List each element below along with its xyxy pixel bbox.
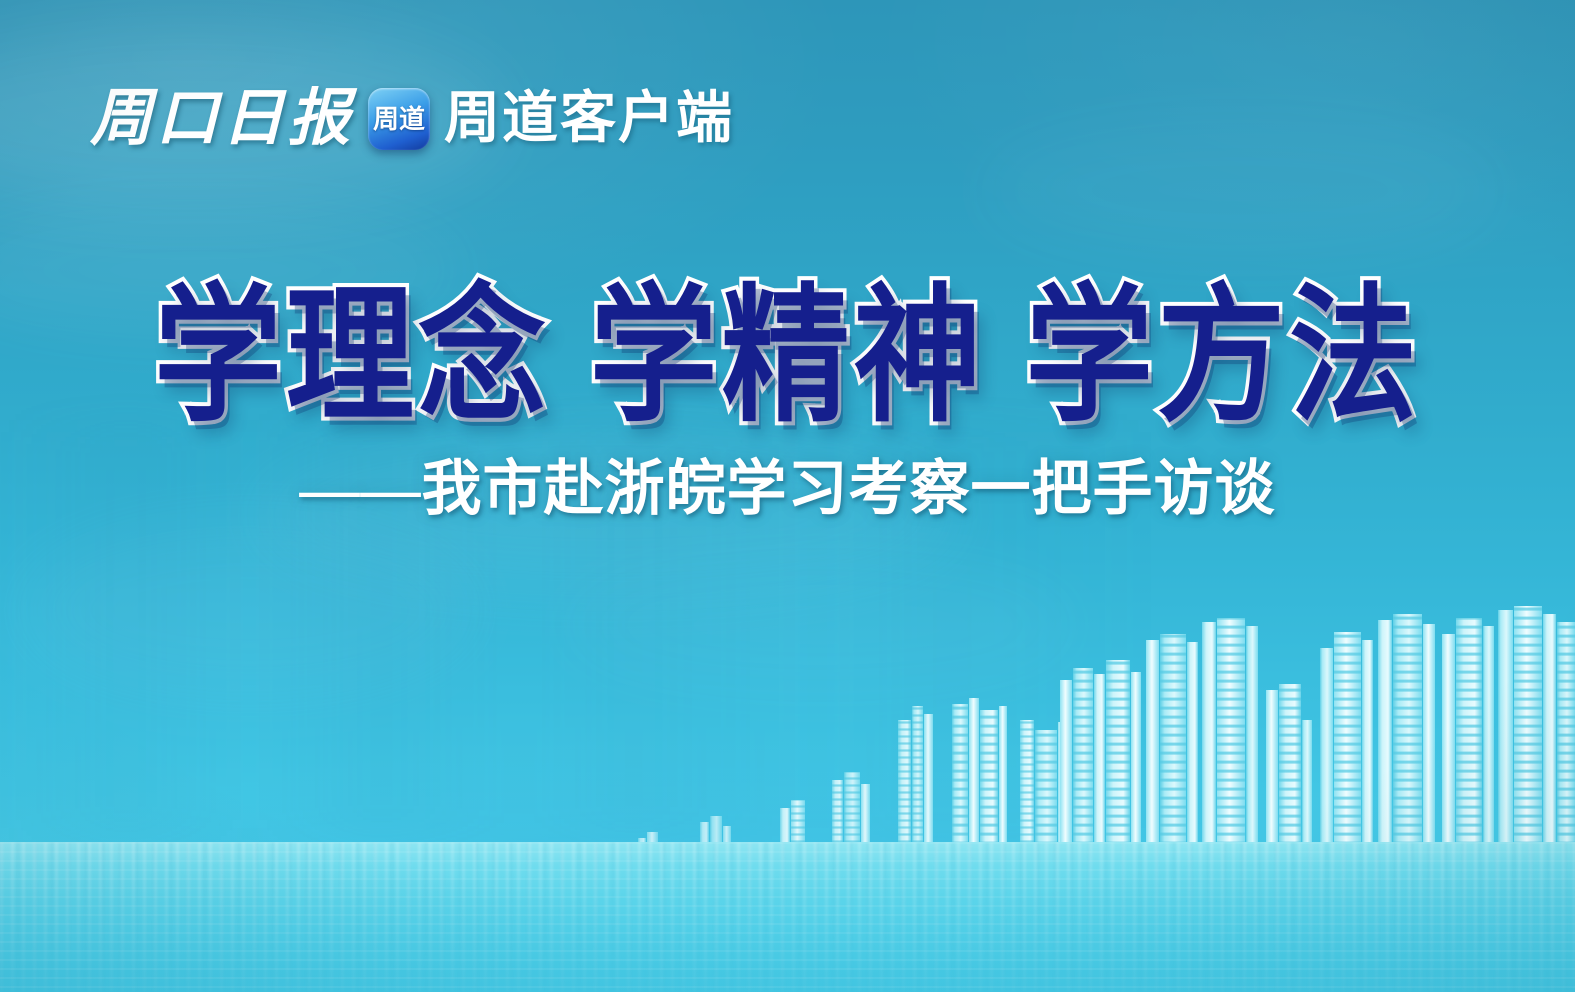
brand-logo[interactable]: 周口日报 周道 周道客户端 <box>90 88 734 150</box>
subheadline-text: ——我市赴浙皖学习考察一把手访谈 <box>300 458 1276 521</box>
poster-canvas: 周口日报 周道 周道客户端 学理念 学精神 学方法 ——我市赴浙皖学习考察一把手… <box>0 0 1575 992</box>
city-landscape <box>0 522 1575 992</box>
app-icon-label: 周道 <box>373 106 425 132</box>
zhoudao-app-icon[interactable]: 周道 <box>368 88 430 150</box>
subheadline-container: ——我市赴浙皖学习考察一把手访谈 <box>0 458 1575 521</box>
newspaper-wordmark: 周口日报 <box>90 88 354 150</box>
water-ripples <box>0 842 1575 992</box>
main-headline: 学理念 学精神 学方法 <box>154 282 1421 433</box>
client-name-text: 周道客户端 <box>444 91 734 147</box>
headline-container: 学理念 学精神 学方法 <box>0 282 1575 413</box>
